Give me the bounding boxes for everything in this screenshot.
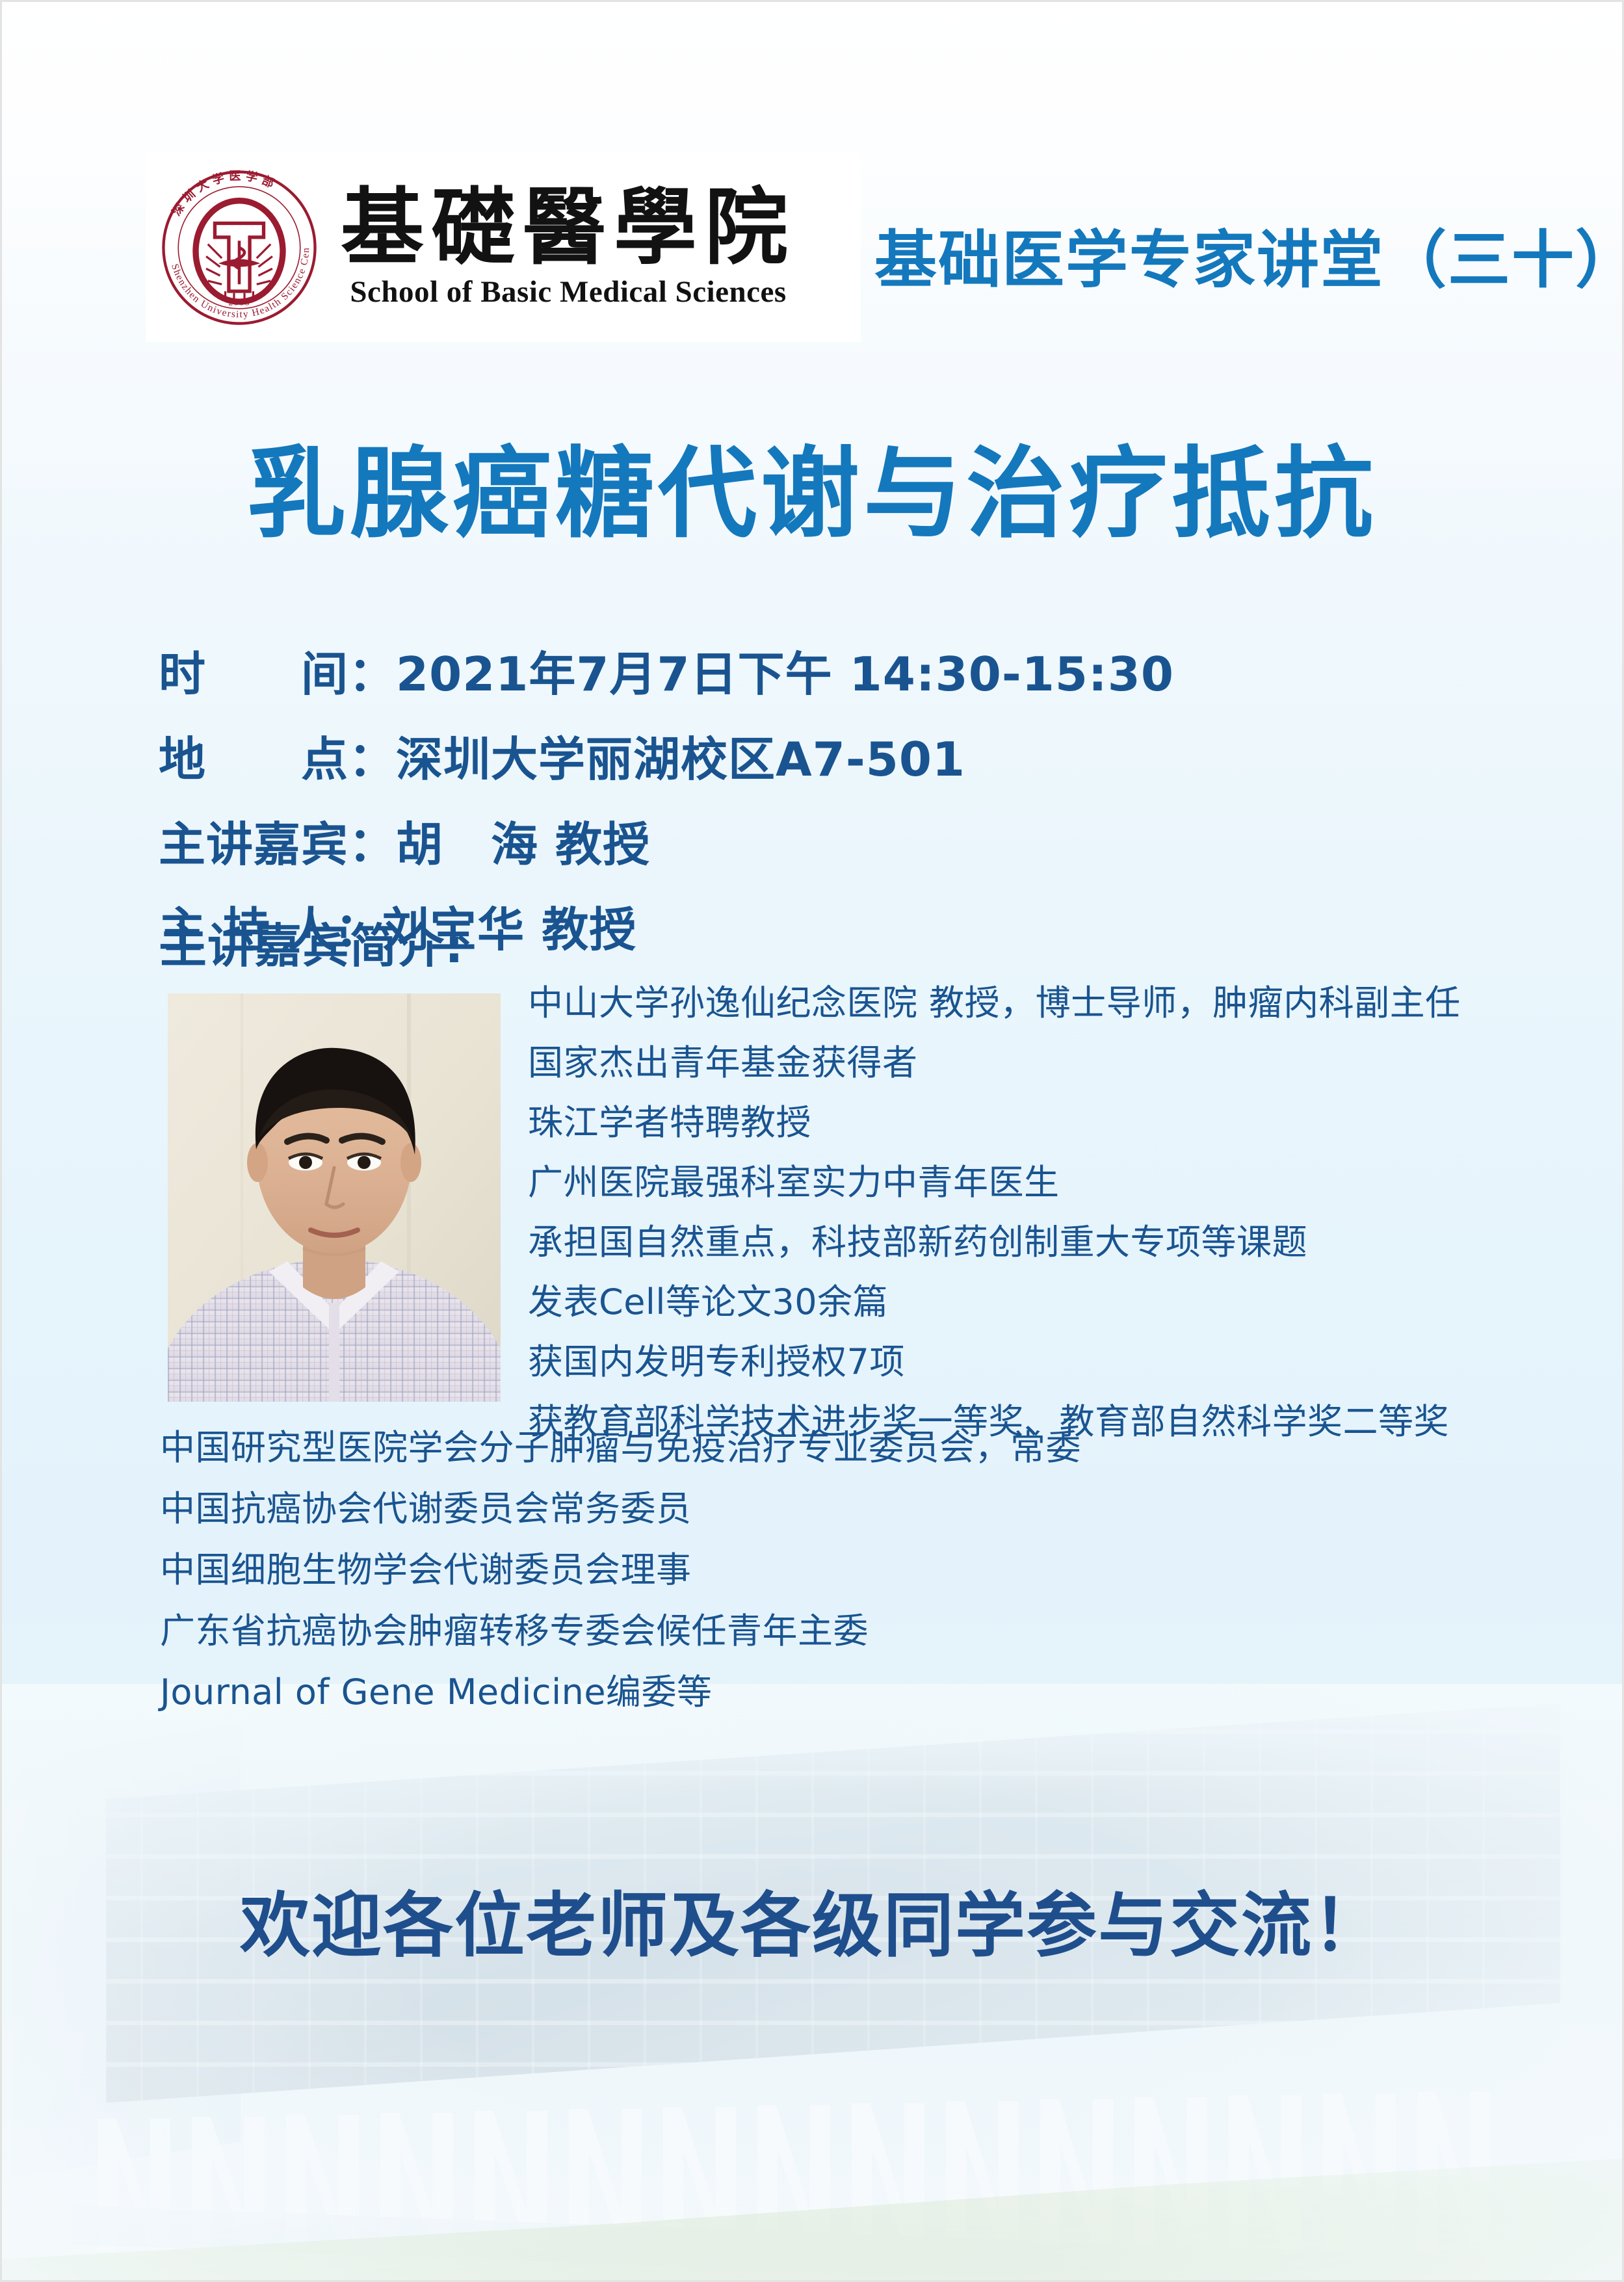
detail-value-location: 深圳大学丽湖校区A7-501 (396, 721, 965, 789)
poster-root: Shenzhen University Health Science Cente… (0, 0, 1624, 2282)
bio-line: 广州医院最强科室实力中青年医生 (528, 1165, 1594, 1200)
school-name-block: 基礎醫學院 School of Basic Medical Sciences (341, 186, 796, 310)
poster-main-title: 乳腺癌糖代谢与治疗抵抗 (0, 413, 1624, 557)
bio-line: Journal of Gene Medicine编委等 (160, 1675, 1590, 1710)
bio-line: 中国研究型医院学会分子肿瘤与免疫治疗专业委员会，常委 (160, 1430, 1590, 1465)
svg-text:2008: 2008 (228, 297, 250, 308)
detail-value-time: 2021年7月7日下午 14:30-15:30 (396, 636, 1174, 704)
bio-line: 珠江学者特聘教授 (528, 1105, 1594, 1140)
background-vignette (0, 1684, 1624, 2282)
lecture-series-title: 基础医学专家讲堂（三十） (874, 209, 1624, 300)
detail-value-speaker: 胡 海 教授 (396, 806, 650, 874)
bio-line: 国家杰出青年基金获得者 (528, 1045, 1594, 1081)
detail-label-speaker: 主讲嘉宾： (159, 806, 396, 874)
school-logo-block: Shenzhen University Health Science Cente… (146, 153, 861, 342)
bio-line: 承担国自然重点，科技部新药创制重大专项等课题 (528, 1225, 1594, 1260)
school-name-en: School of Basic Medical Sciences (350, 274, 786, 309)
bio-line: 中国抗癌协会代谢委员会常务委员 (160, 1491, 1590, 1527)
speaker-bio-lines-below: 中国研究型医院学会分子肿瘤与免疫治疗专业委员会，常委 中国抗癌协会代谢委员会常务… (160, 1430, 1590, 1736)
bio-line: 中山大学孙逸仙纪念医院 教授，博士导师，肿瘤内科副主任 (528, 986, 1594, 1021)
speaker-portrait-photo (168, 993, 501, 1402)
detail-row-time: 时 间： 2021年7月7日下午 14:30-15:30 (159, 636, 1459, 704)
campus-building-background-image (0, 1684, 1624, 2282)
call-to-action-text: 欢迎各位老师及各级同学参与交流！ (0, 1869, 1624, 1971)
detail-label-location: 地 点： (159, 721, 396, 789)
bio-line: 广东省抗癌协会肿瘤转移专委会候任青年主委 (160, 1614, 1590, 1649)
detail-row-location: 地 点： 深圳大学丽湖校区A7-501 (159, 721, 1459, 789)
bio-line: 获国内发明专利授权7项 (528, 1344, 1594, 1380)
speaker-bio-lines-right: 中山大学孙逸仙纪念医院 教授，博士导师，肿瘤内科副主任 国家杰出青年基金获得者 … (528, 986, 1594, 1464)
detail-row-speaker: 主讲嘉宾： 胡 海 教授 (159, 806, 1459, 874)
detail-label-time: 时 间： (159, 636, 396, 704)
bio-line: 发表Cell等论文30余篇 (528, 1285, 1594, 1320)
school-name-cn: 基礎醫學院 (341, 186, 796, 271)
speaker-bio-heading: 主讲嘉宾简介: (160, 908, 464, 976)
portrait-illustration (168, 993, 501, 1402)
poster-header: Shenzhen University Health Science Cente… (0, 153, 1624, 342)
bio-line: 中国细胞生物学会代谢委员会理事 (160, 1553, 1590, 1588)
university-seal-icon: Shenzhen University Health Science Cente… (152, 161, 326, 335)
